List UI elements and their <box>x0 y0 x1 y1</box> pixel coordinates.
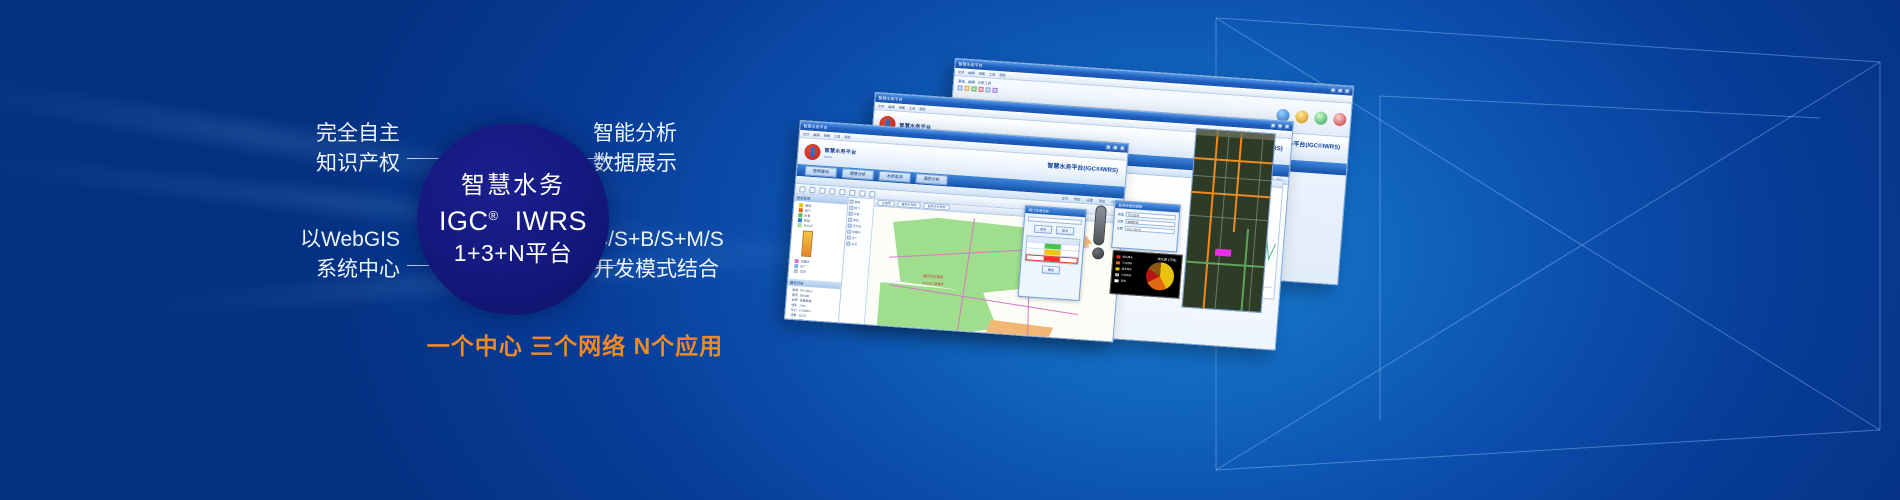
tree-item-label: 阀门 <box>805 209 811 213</box>
badge-product: IGC® IWRS <box>439 205 587 238</box>
flow-icon <box>847 230 851 234</box>
tool-flow[interactable]: 流量计 <box>847 230 870 236</box>
legend-item: 工业用水 <box>1116 260 1133 265</box>
map-orange-area-2 <box>981 319 1053 342</box>
badge-product-rest: IWRS <box>515 206 588 236</box>
sat-road-g2 <box>1240 229 1248 313</box>
minimize-icon <box>1330 87 1335 92</box>
company-logo-icon <box>804 143 821 160</box>
dialog-valve-input[interactable] <box>1028 216 1082 225</box>
registered-mark-icon: ® <box>488 208 498 223</box>
sat-road-w2 <box>1190 215 1270 222</box>
menu-edit[interactable]: 编辑 <box>888 104 895 109</box>
window-front-system-title: 智慧水务平台(IGC®IWRS) <box>1047 160 1118 174</box>
monitor-field-label-2: 日期 <box>1117 226 1123 230</box>
attr-key: 材质 <box>791 298 797 302</box>
ribbon-chart-icon[interactable] <box>1314 111 1328 125</box>
satellite-map[interactable] <box>1182 128 1276 313</box>
pie-chart <box>1145 261 1175 291</box>
minimize-icon <box>1106 144 1111 149</box>
nav-item-1[interactable]: 爆管分析 <box>841 168 874 180</box>
attr-key: 管径 <box>792 293 798 297</box>
print-icon[interactable] <box>869 191 875 197</box>
dialog-valve-wrap[interactable]: 阀门关闭分析 查询 取消 确定 <box>1018 205 1087 301</box>
sat-road-g1 <box>1186 261 1266 268</box>
sat-road-w1 <box>1193 175 1273 182</box>
feature-label-top-left: 完全自主 知识产权 <box>250 119 400 179</box>
badge-product-main: IGC <box>439 206 489 236</box>
menu-file[interactable]: 文件 <box>958 69 965 74</box>
menu-help[interactable]: 帮助 <box>919 106 926 111</box>
attr-key: 编号 <box>792 288 798 292</box>
close-icon <box>1344 88 1349 93</box>
badge-title: 智慧水务 <box>461 171 565 200</box>
window-controls[interactable] <box>1330 87 1349 93</box>
menu-view[interactable]: 视图 <box>978 71 985 76</box>
close-icon <box>1120 145 1125 150</box>
attr-value: 120.5 <box>798 313 806 318</box>
sat-road-h2 <box>1192 191 1272 198</box>
attr-key: 埋深 <box>791 303 797 307</box>
map-tab-2[interactable]: 监测点分布图 <box>923 203 949 211</box>
minimize-icon <box>1270 123 1275 128</box>
window-mid-title: 智慧水务平台 <box>878 95 902 103</box>
window-front-brand-sub: IWRS <box>824 155 856 161</box>
sat-road-h1 <box>1195 157 1275 164</box>
maximize-icon <box>1337 88 1342 93</box>
tool-press[interactable]: 压力点 <box>848 224 871 230</box>
menu-edit[interactable]: 编辑 <box>968 70 975 75</box>
save-icon[interactable] <box>809 186 815 192</box>
attr-value: DN300 <box>800 293 810 298</box>
dialog-valve-table <box>1024 235 1080 265</box>
dialog-valve[interactable]: 阀门关闭分析 查询 取消 确定 <box>1018 205 1087 301</box>
ribbon-group-3: 分析工具 <box>977 80 991 86</box>
feature-bl-line1: 以WebGIS <box>250 225 400 255</box>
pump-icon <box>848 218 852 222</box>
feature-tl-line2: 知识产权 <box>250 149 400 179</box>
attr-value: 0.32MPa <box>799 308 811 313</box>
tree-item-label: 压力点 <box>803 224 812 229</box>
window-front-title: 智慧水务平台 <box>803 123 827 131</box>
feature-label-bottom-right: C/S+B/S+M/S 开发模式结合 <box>593 225 803 285</box>
tree-item-label: 管网 <box>805 204 811 208</box>
attr-value: 球墨铸铁 <box>799 298 811 303</box>
center-badge: 智慧水务 IGC® IWRS 1+3+N平台 <box>417 123 609 315</box>
badge-platform: 1+3+N平台 <box>454 239 573 267</box>
map-tab-0[interactable]: 主视图 <box>877 200 894 207</box>
tool-label[interactable]: 注记 <box>846 242 869 248</box>
dialog-monitor[interactable]: 监测点信息面板 类型 压力监测 位置 城南泵站 日期 2021-08-16 <box>1111 200 1181 252</box>
tool-plant[interactable]: 水厂 <box>847 236 870 242</box>
feature-bl-line2: 系统中心 <box>250 255 400 285</box>
satellite-window-wrap[interactable] <box>1182 128 1276 313</box>
sat-highlight-area <box>1215 249 1232 257</box>
window-front-controls[interactable] <box>1106 144 1125 150</box>
window-mid-controls[interactable] <box>1270 123 1289 129</box>
tool-pump[interactable]: 泵站 <box>848 218 871 224</box>
tree-item-label: 泵站 <box>804 219 810 223</box>
monitor-field-value-2[interactable]: 2021-08-16 <box>1125 226 1175 234</box>
zoom-out-icon[interactable] <box>839 188 845 194</box>
dialog-valve-ok-button[interactable]: 确定 <box>1042 265 1061 274</box>
label-icon <box>846 242 850 246</box>
sublink-3[interactable]: 退出 <box>1099 198 1106 203</box>
attr-value: PG-0012 <box>800 288 812 293</box>
ribbon-icon-1[interactable] <box>957 85 962 90</box>
feature-tr-line2: 数据展示 <box>593 149 783 179</box>
menu-edit[interactable]: 编辑 <box>813 132 820 137</box>
maximize-icon <box>1277 123 1282 128</box>
tree-item-label: 水厂 <box>800 264 806 268</box>
sublink-2[interactable]: 设置 <box>1086 197 1093 202</box>
infographic: 智慧水务 IGC® IWRS 1+3+N平台 完全自主 知识产权 智能分析 数据… <box>255 95 815 395</box>
menu-view[interactable]: 视图 <box>823 133 830 138</box>
map-tab-1[interactable]: 管网分布图 <box>897 201 920 209</box>
menu-view[interactable]: 视图 <box>898 105 905 110</box>
sublink-1[interactable]: 帮助 <box>1074 196 1081 201</box>
dialog-valve-query-button[interactable]: 查询 <box>1034 225 1053 234</box>
ribbon-alarm-icon[interactable] <box>1333 113 1347 127</box>
pie-chart-panel: 居民用水 工业用水 商业用水 公共用水 其他 供水量 (万吨) <box>1109 250 1182 299</box>
legend-item: 公共用水 <box>1115 272 1132 277</box>
menu-help[interactable]: 帮助 <box>999 72 1006 77</box>
ribbon-group-1: 基础 <box>958 78 965 83</box>
plant-icon <box>847 236 851 240</box>
attr-key: 压力 <box>791 308 797 312</box>
menu-tools[interactable]: 工具 <box>909 105 916 110</box>
menu-file[interactable]: 文件 <box>803 131 810 136</box>
window-back-title: 智慧水务平台 <box>958 61 982 69</box>
feature-tl-line1: 完全自主 <box>250 119 400 149</box>
query-icon <box>849 200 853 204</box>
ribbon-icon-6[interactable] <box>992 88 997 93</box>
attr-key: 流量 <box>790 313 796 317</box>
tree-item-label: 流量计 <box>801 259 810 264</box>
tree-item-label: 注记 <box>800 269 806 273</box>
measure-icon[interactable] <box>859 190 865 196</box>
legend-item: 其他 <box>1114 278 1131 283</box>
map-area-sublabel: 中心区二级管网 <box>922 281 943 286</box>
ribbon-icon-3[interactable] <box>971 86 976 91</box>
open-icon[interactable] <box>799 186 805 192</box>
feature-label-bottom-left: 以WebGIS 系统中心 <box>250 225 400 285</box>
close-icon <box>1284 124 1289 129</box>
zoom-in-icon[interactable] <box>829 188 835 194</box>
menu-help[interactable]: 帮助 <box>844 134 851 139</box>
feature-br-line2: 开发模式结合 <box>593 255 803 285</box>
legend-item: 居民用水 <box>1116 254 1133 259</box>
tool-query[interactable]: 管网 <box>849 200 872 206</box>
tree-item-label: 水表 <box>804 214 810 218</box>
menu-file[interactable]: 文件 <box>878 103 885 108</box>
maximize-icon <box>1113 145 1118 150</box>
valve-icon <box>849 206 853 210</box>
ribbon-icon-2[interactable] <box>964 86 969 91</box>
attr-value: 1.8m <box>799 303 806 307</box>
ribbon-icon-5[interactable] <box>985 87 990 92</box>
pressure-icon <box>848 224 852 228</box>
sublink-0[interactable]: 主页 <box>1062 195 1069 200</box>
legend-item: 商业用水 <box>1115 266 1132 271</box>
tool-valve[interactable]: 阀门 <box>849 206 872 212</box>
select-icon[interactable] <box>849 189 855 195</box>
legend-ramp <box>801 230 813 257</box>
meter-icon <box>848 212 852 216</box>
monitor-field-label-0: 类型 <box>1118 212 1124 216</box>
ribbon-report-icon[interactable] <box>1295 110 1309 124</box>
tool-meter[interactable]: 水表 <box>848 212 871 218</box>
ribbon-group-2: 编辑 <box>968 79 975 84</box>
nav-item-2[interactable]: 水质监测 <box>878 171 911 183</box>
menu-tools[interactable]: 工具 <box>989 71 996 76</box>
feature-label-top-right: 智能分析 数据展示 <box>593 119 783 179</box>
monitor-field-label-1: 位置 <box>1117 219 1123 223</box>
pie-legend: 居民用水 工业用水 商业用水 公共用水 其他 <box>1114 254 1133 283</box>
feature-br-line1: C/S+B/S+M/S <box>593 225 803 255</box>
pan-icon[interactable] <box>819 187 825 193</box>
tagline: 一个中心 三个网络 N个应用 <box>365 327 785 361</box>
nav-item-3[interactable]: 漏损分析 <box>915 173 948 185</box>
nav-item-0[interactable]: 管网查询 <box>805 165 838 177</box>
dialog-valve-cancel-button[interactable]: 取消 <box>1056 226 1075 235</box>
banner-stage: 智慧水务 IGC® IWRS 1+3+N平台 完全自主 知识产权 智能分析 数据… <box>0 0 1900 500</box>
feature-tr-line1: 智能分析 <box>593 119 783 149</box>
ribbon-icon-4[interactable] <box>978 87 983 92</box>
menu-tools[interactable]: 工具 <box>834 133 841 138</box>
